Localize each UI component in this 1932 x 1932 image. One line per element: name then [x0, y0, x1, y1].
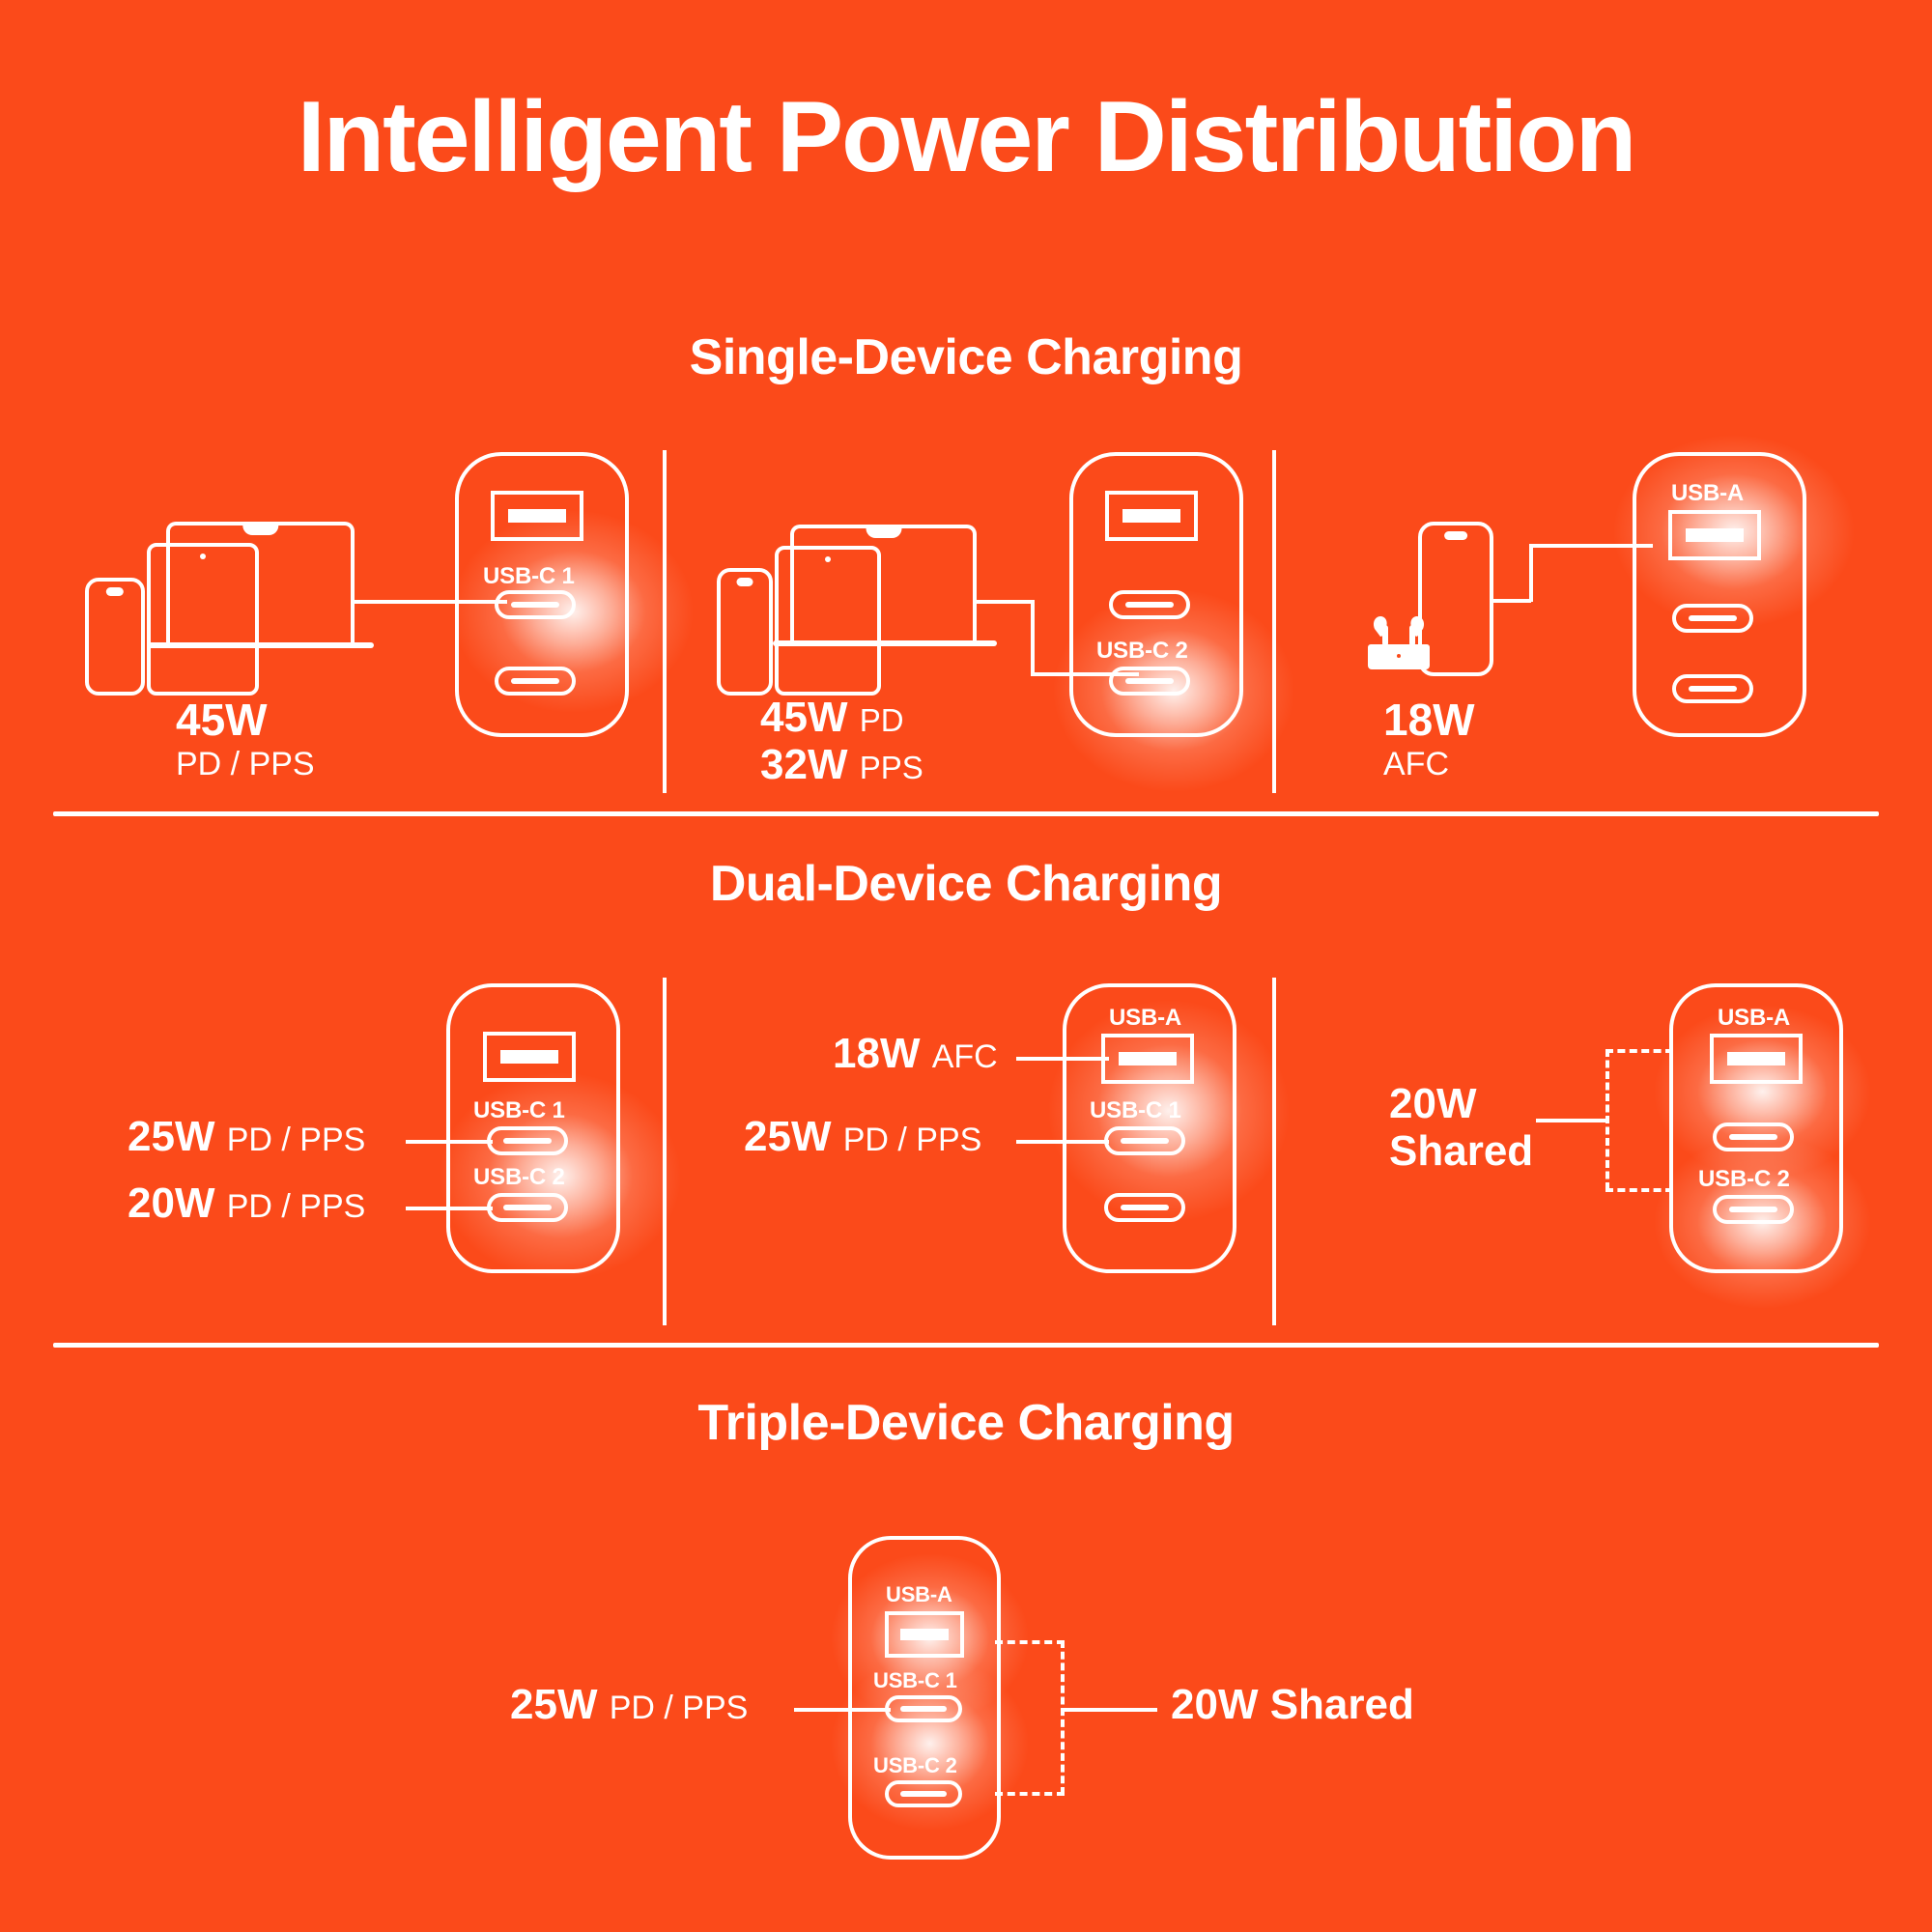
usb-c-2-port-d2: [1104, 1193, 1185, 1222]
readout-watts-d1a: 25W: [128, 1113, 214, 1160]
usb-c-2-label-d1: USB-C 2: [473, 1164, 565, 1191]
phone-notch-icon: [106, 587, 124, 596]
device-phone-s2: [717, 568, 773, 696]
readout-s3: 18W AFC: [1383, 696, 1475, 782]
usb-a-label-t1: USB-A: [886, 1582, 952, 1607]
shared-bracket-t1-bottom: [995, 1792, 1065, 1796]
phone-notch-icon: [737, 578, 753, 586]
usb-c-1-port-s1: [495, 590, 576, 619]
shared-bracket-d3-bottom: [1605, 1188, 1673, 1192]
usb-c-1-port-d1: [487, 1126, 568, 1155]
usb-a-port-s1: [491, 491, 583, 541]
phone-notch-icon: [1444, 531, 1467, 540]
usb-a-port-d3: [1710, 1034, 1803, 1084]
readout-t1-left: 25W PD / PPS: [510, 1681, 748, 1728]
readout-d2-b: 25W PD / PPS: [744, 1113, 981, 1160]
usb-c-1-port-s2: [1109, 590, 1190, 619]
usb-a-label-d3: USB-A: [1718, 1005, 1790, 1032]
usb-c-2-label-s2: USB-C 2: [1096, 638, 1188, 665]
leader-d1-a: [406, 1140, 493, 1144]
usb-c-2-label-d3: USB-C 2: [1698, 1166, 1790, 1193]
page-title: Intelligent Power Distribution: [0, 85, 1932, 190]
usb-c-2-port-d3: [1713, 1195, 1794, 1224]
usb-a-port-d2: [1101, 1034, 1194, 1084]
usb-c-2-port-s2: [1109, 667, 1190, 696]
usb-a-port-s3: [1668, 510, 1761, 560]
readout-watts-t1: 25W: [510, 1681, 597, 1728]
leader-d3: [1536, 1119, 1609, 1122]
readout-protocol-d1b: PD / PPS: [227, 1188, 366, 1225]
readout-watts-s3: 18W: [1383, 695, 1475, 745]
device-phone-s1: [85, 578, 145, 696]
leader-t1-right: [1061, 1708, 1157, 1712]
readout-d2-a: 18W AFC: [833, 1030, 998, 1077]
readout-protocol-t1: PD / PPS: [610, 1690, 749, 1726]
usb-c-2-port-t1: [885, 1780, 962, 1807]
divider-vertical-1b: [1272, 450, 1276, 793]
readout-d3: 20W Shared: [1389, 1080, 1533, 1176]
shared-bracket-d3-top: [1605, 1049, 1673, 1053]
readout-d1-b: 20W PD / PPS: [128, 1179, 365, 1227]
divider-horizontal-2: [53, 1343, 1879, 1348]
infographic-canvas: Intelligent Power Distribution Single-De…: [0, 0, 1932, 1932]
usb-c-1-port-s3: [1672, 604, 1753, 633]
readout-watts-s1: 45W: [176, 695, 268, 745]
device-laptop-screen-s1: [166, 522, 355, 645]
readout-shared-d3: Shared: [1389, 1127, 1533, 1175]
usb-c-2-port-s1: [495, 667, 576, 696]
section-header-triple: Triple-Device Charging: [0, 1394, 1932, 1452]
readout-watts-d2a: 18W: [833, 1030, 920, 1077]
readout-watts-d1b: 20W: [128, 1179, 214, 1227]
section-header-single: Single-Device Charging: [0, 328, 1932, 386]
usb-c-2-label-t1: USB-C 2: [873, 1753, 957, 1778]
readout-protocol-s2b: PPS: [860, 750, 923, 785]
leader-d2-a: [1016, 1057, 1109, 1061]
readout-watts-d3: 20W: [1389, 1080, 1476, 1127]
usb-c-1-label-s1: USB-C 1: [483, 563, 575, 590]
connector-s2-v: [1031, 600, 1035, 675]
divider-vertical-1a: [663, 450, 667, 793]
device-laptop-base-s2: [773, 640, 997, 646]
section-header-dual: Dual-Device Charging: [0, 855, 1932, 913]
device-phone-s3: [1418, 522, 1493, 676]
device-laptop-base-s1: [147, 642, 374, 648]
divider-horizontal-1: [53, 811, 1879, 816]
readout-protocol-s2a: PD: [860, 702, 904, 738]
divider-vertical-2a: [663, 978, 667, 1325]
readout-t1-right: 20W Shared: [1171, 1681, 1414, 1728]
readout-s2: 45W PD 32W PPS: [760, 694, 923, 789]
usb-c-1-label-t1: USB-C 1: [873, 1668, 957, 1693]
usb-c-1-port-t1: [885, 1695, 962, 1722]
readout-s1: 45W PD / PPS: [176, 696, 315, 782]
usb-a-port-d1: [483, 1032, 576, 1082]
usb-c-1-label-d2: USB-C 1: [1090, 1097, 1181, 1124]
readout-protocol-d2a: AFC: [932, 1038, 998, 1075]
usb-a-label-s3: USB-A: [1671, 480, 1744, 507]
laptop-camera-icon: [866, 526, 901, 538]
readout-protocol-d1a: PD / PPS: [227, 1122, 366, 1158]
readout-d1-a: 25W PD / PPS: [128, 1113, 365, 1160]
usb-c-1-label-d1: USB-C 1: [473, 1097, 565, 1124]
readout-watts-s2b: 32W: [760, 741, 847, 788]
connector-s2-h1: [974, 600, 1034, 604]
leader-d1-b: [406, 1207, 493, 1210]
leader-d2-b: [1016, 1140, 1109, 1144]
connector-s3-h1: [1491, 599, 1531, 603]
readout-protocol-s1: PD / PPS: [176, 746, 315, 782]
usb-c-2-port-s3: [1672, 674, 1753, 703]
usb-c-1-port-d3: [1713, 1122, 1794, 1151]
usb-a-port-s2: [1105, 491, 1198, 541]
readout-watts-s2a: 45W: [760, 694, 847, 741]
shared-bracket-t1: [1061, 1640, 1065, 1795]
device-laptop-screen-s2: [790, 525, 977, 645]
readout-protocol-s3: AFC: [1383, 746, 1449, 782]
usb-a-port-t1: [885, 1611, 964, 1658]
shared-bracket-t1-top: [995, 1640, 1065, 1644]
divider-vertical-2b: [1272, 978, 1276, 1325]
usb-c-1-port-d2: [1104, 1126, 1185, 1155]
connector-s3-v: [1529, 546, 1533, 602]
readout-protocol-d2b: PD / PPS: [843, 1122, 982, 1158]
readout-shared-t1: 20W Shared: [1171, 1681, 1414, 1728]
usb-c-2-port-d1: [487, 1193, 568, 1222]
laptop-camera-icon: [242, 524, 278, 535]
usb-a-label-d2: USB-A: [1109, 1005, 1181, 1032]
leader-t1-left: [794, 1708, 891, 1712]
readout-watts-d2b: 25W: [744, 1113, 831, 1160]
